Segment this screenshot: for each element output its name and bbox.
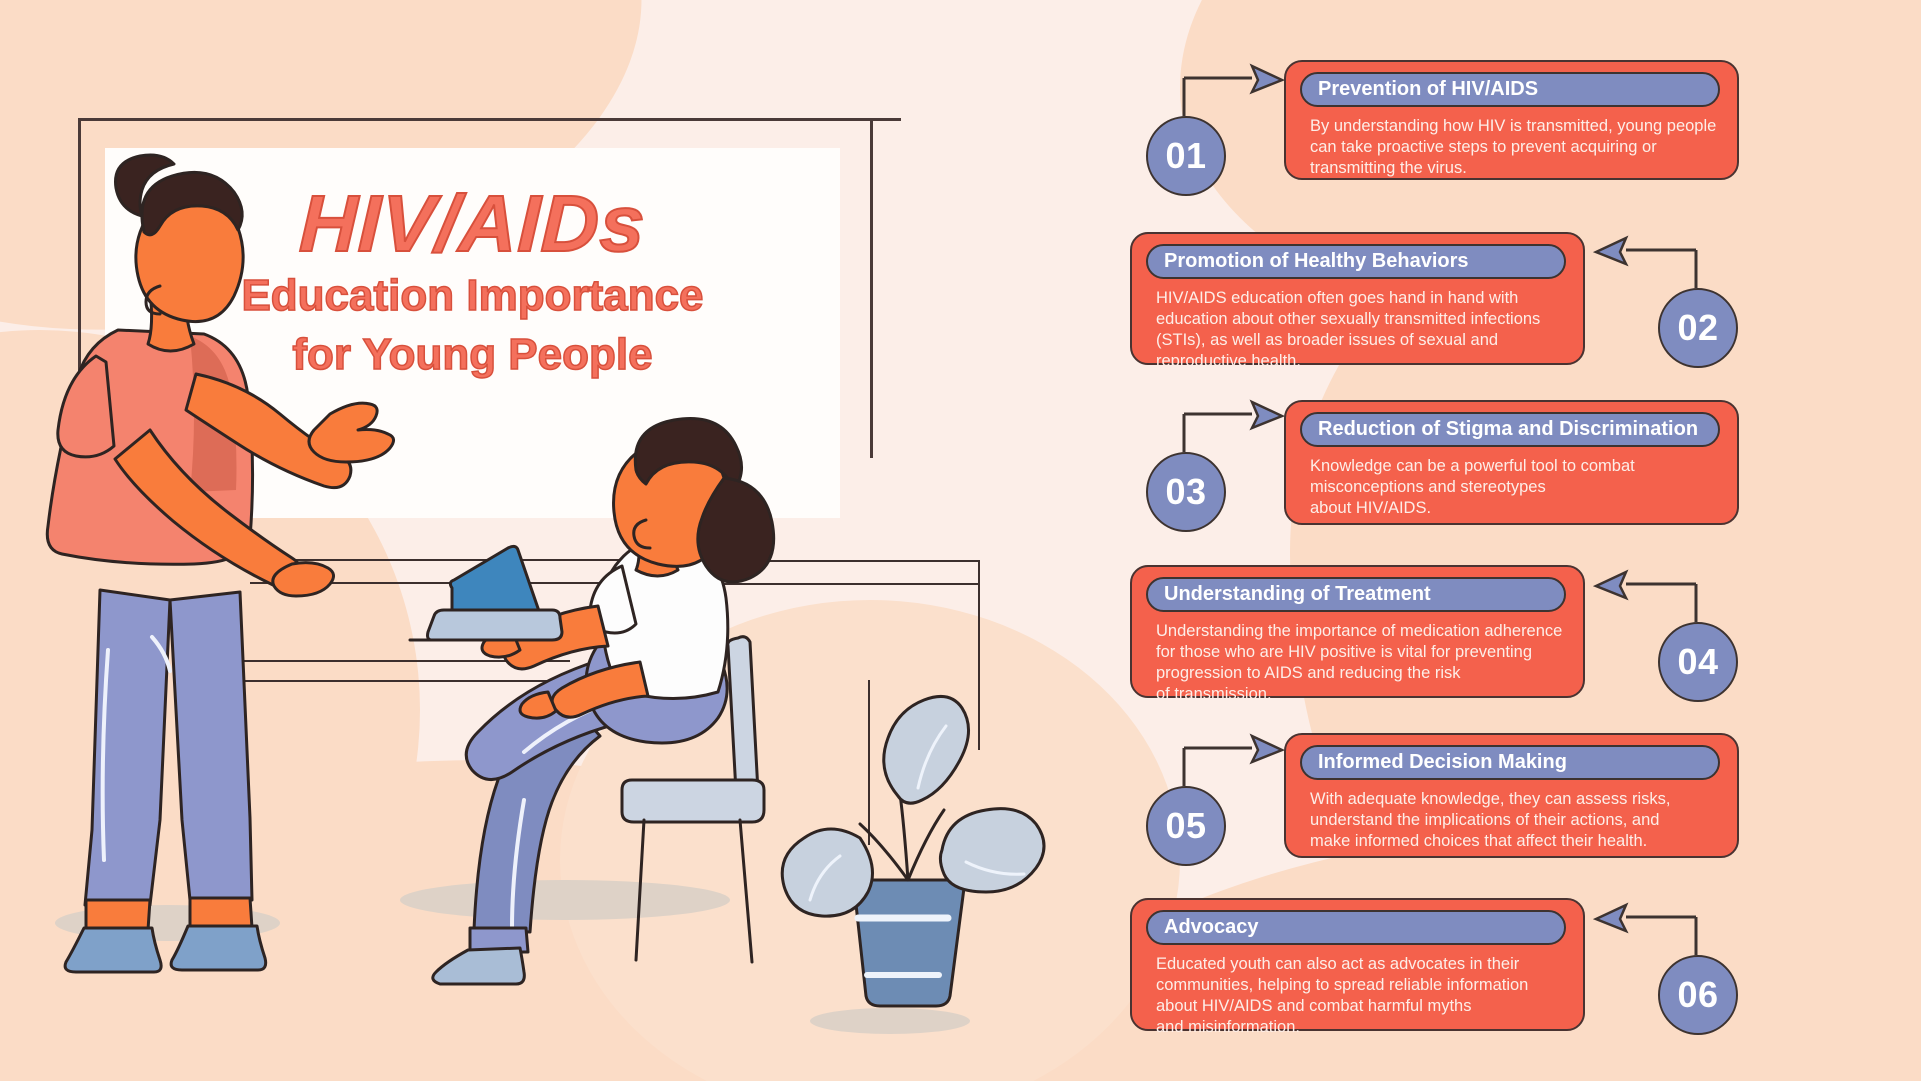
steps-column: Prevention of HIV/AIDS By understanding … xyxy=(1130,0,1921,1081)
illustration xyxy=(0,0,1060,1081)
step-connector-06 xyxy=(1130,0,1921,1081)
infographic-canvas: HIV/AIDs Education Importance for Young … xyxy=(0,0,1921,1081)
